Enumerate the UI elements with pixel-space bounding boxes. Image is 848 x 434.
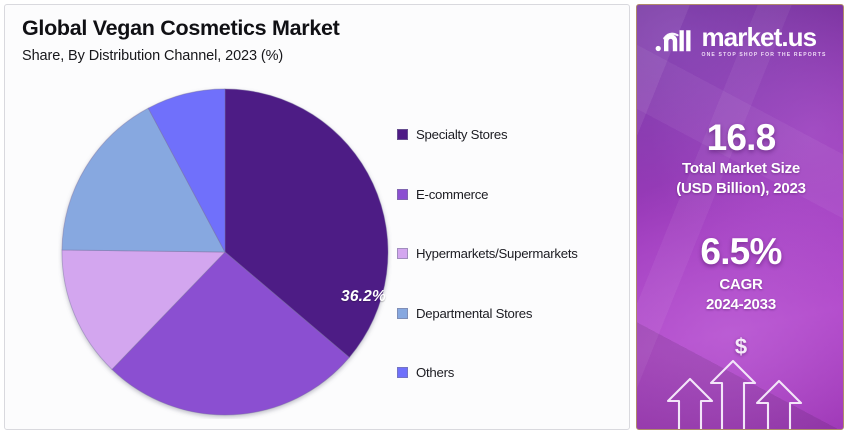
cagr-value: 6.5%	[637, 233, 844, 270]
title-block: Global Vegan Cosmetics Market Share, By …	[22, 16, 622, 64]
legend-swatch-icon	[397, 189, 408, 200]
growth-arrows-icon	[637, 357, 844, 429]
chart-subtitle: Share, By Distribution Channel, 2023 (%)	[22, 48, 622, 64]
legend-swatch-icon	[397, 129, 408, 140]
legend-item-label: Hypermarkets/Supermarkets	[416, 246, 578, 261]
market-size-value: 16.8	[637, 119, 844, 156]
cagr-caption-line1: CAGR	[637, 275, 844, 295]
logo-wordmark: market.us	[701, 24, 826, 50]
market-us-logo-mark	[655, 26, 695, 56]
infographic-root: Global Vegan Cosmetics Market Share, By …	[0, 0, 848, 434]
market-us-logo[interactable]: market.us ONE STOP SHOP FOR THE REPORTS	[637, 24, 844, 58]
pie-slice-group	[62, 89, 388, 415]
legend-item-label: Specialty Stores	[416, 127, 507, 142]
dollar-icon: $	[637, 336, 844, 358]
pie-chart: 36.2%	[58, 85, 392, 419]
legend-item-label: E-commerce	[416, 187, 488, 202]
chart-panel: Global Vegan Cosmetics Market Share, By …	[4, 4, 630, 430]
market-size-caption-line1: Total Market Size	[637, 159, 844, 179]
legend-item[interactable]: E-commerce	[397, 165, 630, 225]
legend-item-label: Departmental Stores	[416, 306, 532, 321]
pie-chart-svg	[58, 85, 392, 419]
chart-legend: Specialty StoresE-commerceHypermarkets/S…	[397, 105, 630, 403]
legend-swatch-icon	[397, 367, 408, 378]
cagr-caption-line2: 2024-2033	[637, 295, 844, 315]
cagr-caption: CAGR 2024-2033	[637, 275, 844, 314]
legend-swatch-icon	[397, 248, 408, 259]
legend-item[interactable]: Departmental Stores	[397, 284, 630, 344]
legend-swatch-icon	[397, 308, 408, 319]
market-size-caption-line2: (USD Billion), 2023	[637, 179, 844, 199]
page-title: Global Vegan Cosmetics Market	[22, 16, 622, 41]
legend-item[interactable]: Others	[397, 343, 630, 403]
legend-item[interactable]: Specialty Stores	[397, 105, 630, 165]
legend-item-label: Others	[416, 365, 454, 380]
logo-tagline: ONE STOP SHOP FOR THE REPORTS	[701, 53, 826, 58]
brand-panel: market.us ONE STOP SHOP FOR THE REPORTS …	[636, 4, 844, 430]
market-size-caption: Total Market Size (USD Billion), 2023	[637, 159, 844, 198]
logo-text-block: market.us ONE STOP SHOP FOR THE REPORTS	[701, 24, 826, 58]
legend-item[interactable]: Hypermarkets/Supermarkets	[397, 224, 630, 284]
